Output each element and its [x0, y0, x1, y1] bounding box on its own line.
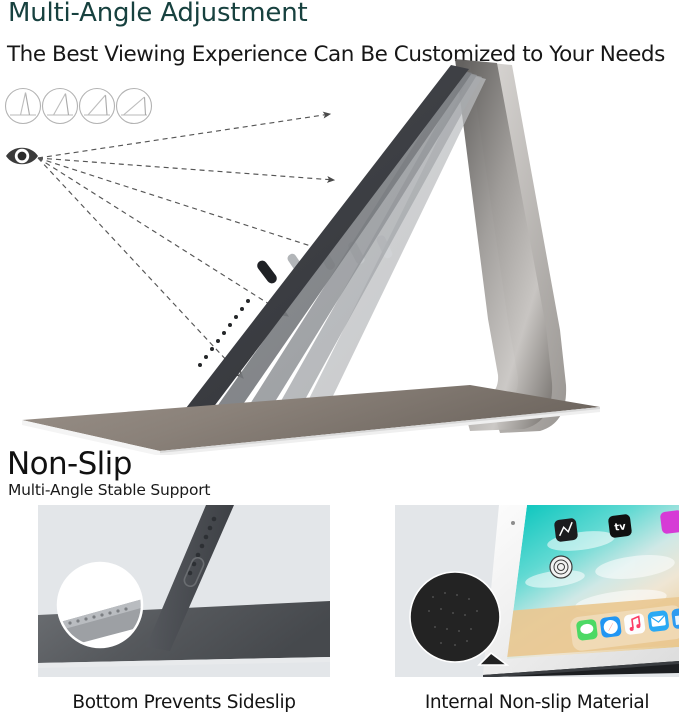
- tablet-device: tv: [483, 505, 679, 675]
- safari-icon: [600, 616, 622, 638]
- messages-icon: [576, 619, 598, 641]
- podcasts-icon: [660, 510, 679, 535]
- page-title: Multi-Angle Adjustment: [8, 0, 308, 28]
- tablet-silhouette-4: [268, 73, 482, 427]
- front-camera-icon: [511, 521, 515, 525]
- nonslip-title: Non-Slip: [7, 446, 132, 482]
- tablet-silhouette-3: [238, 71, 477, 426]
- panel-bottom-prevents-sideslip: [38, 505, 330, 677]
- panel-right-caption: Internal Non-slip Material: [395, 692, 679, 713]
- tablet-silhouette-1: [176, 65, 469, 425]
- svg-text:tv: tv: [614, 521, 627, 533]
- panel-left-caption: Bottom Prevents Sideslip: [38, 692, 330, 713]
- music-icon: [623, 613, 645, 635]
- nonslip-subtitle: Multi-Angle Stable Support: [8, 481, 210, 499]
- panel-internal-nonslip-material: tv: [395, 505, 679, 677]
- clock-icon: [550, 556, 572, 578]
- multi-angle-tablet-stand-illustration: [0, 55, 679, 455]
- apple-tv-icon: tv: [608, 514, 633, 539]
- mail-icon: [647, 610, 669, 632]
- stocks-icon: [554, 518, 579, 543]
